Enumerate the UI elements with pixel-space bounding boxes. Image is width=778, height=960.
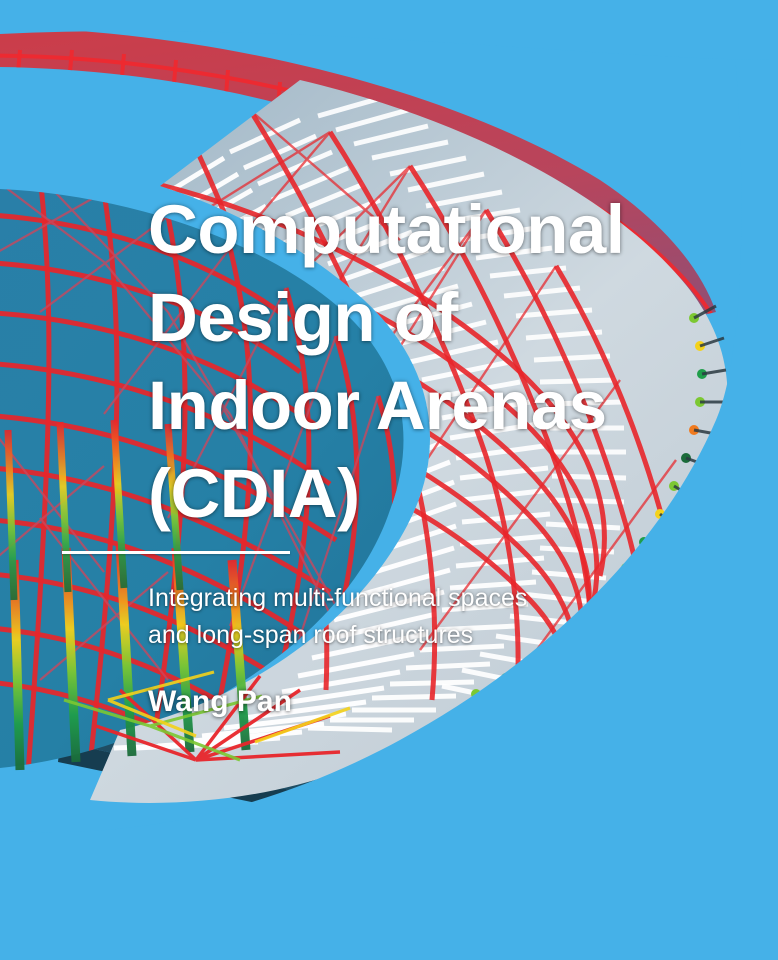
book-cover: Computational Design of Indoor Arenas (C…: [0, 0, 778, 960]
arena-structure-artwork: [0, 0, 778, 960]
